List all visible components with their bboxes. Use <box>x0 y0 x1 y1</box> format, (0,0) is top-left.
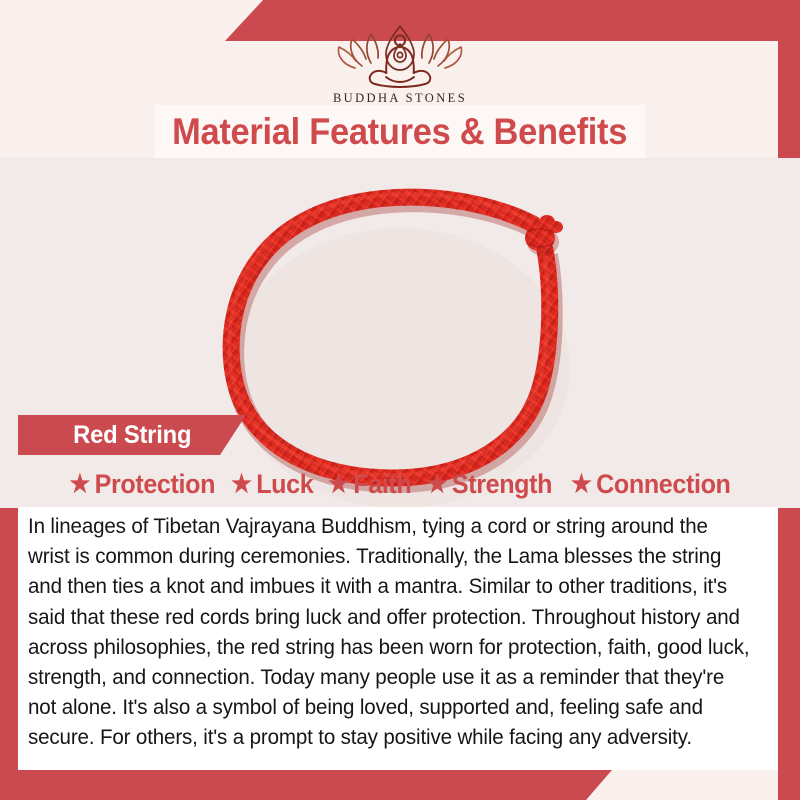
material-banner-label: Red String <box>73 421 191 450</box>
feature-label: Strength <box>452 469 552 500</box>
star-icon: ★ <box>328 472 348 497</box>
red-braided-bracelet-photo <box>0 158 800 508</box>
feature-label: Luck <box>256 469 313 500</box>
lotus-meditation-icon <box>325 20 475 90</box>
feature-list: ★ Protection ★ Luck ★ Faith ★ Strength ★… <box>0 464 800 504</box>
brand-logo: BUDDHA STONES <box>0 20 800 106</box>
page-title: Material Features & Benefits <box>173 111 628 153</box>
bottom-red-band <box>0 770 612 800</box>
feature-label: Connection <box>596 469 730 500</box>
material-banner: Red String <box>18 415 246 455</box>
page-title-box: Material Features & Benefits <box>155 105 645 158</box>
star-icon: ★ <box>427 472 447 497</box>
feature-item-faith: ★ Faith <box>328 469 411 500</box>
brand-name: BUDDHA STONES <box>333 91 467 106</box>
feature-item-luck: ★ Luck <box>231 469 313 500</box>
description-text: In lineages of Tibetan Vajrayana Buddhis… <box>28 511 750 753</box>
feature-label: Faith <box>353 469 411 500</box>
star-icon: ★ <box>571 472 591 497</box>
description-panel: In lineages of Tibetan Vajrayana Buddhis… <box>18 507 778 770</box>
feature-item-connection: ★ Connection <box>571 469 731 500</box>
feature-item-strength: ★ Strength <box>427 469 552 500</box>
infographic-page: BUDDHA STONES Material Features & Benefi… <box>0 0 800 800</box>
star-icon: ★ <box>231 472 251 497</box>
star-icon: ★ <box>69 472 89 497</box>
product-photo-panel <box>0 158 800 508</box>
feature-label: Protection <box>94 469 214 500</box>
feature-item-protection: ★ Protection <box>69 469 215 500</box>
